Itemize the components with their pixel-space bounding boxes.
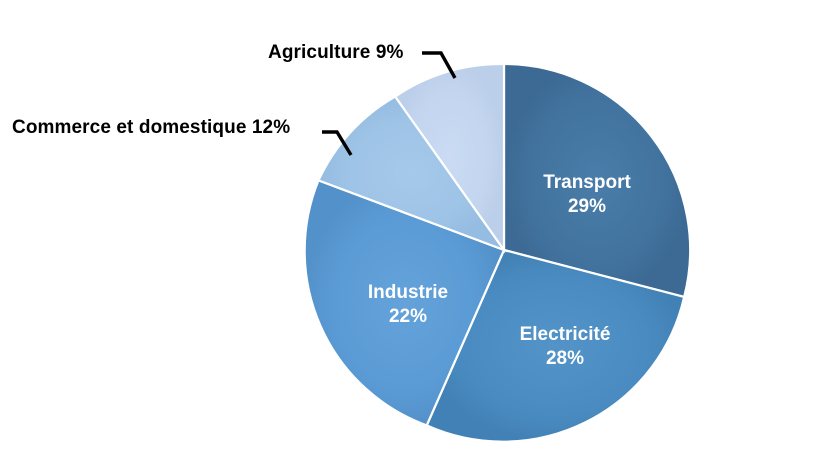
slice-label-electricite-value: 28%: [546, 348, 584, 369]
slice-label-industrie-name: Industrie: [368, 282, 448, 303]
slice-label-transport-value: 29%: [568, 196, 606, 217]
pie-chart-svg: Transport 29% Electricité 28% Industrie …: [0, 0, 820, 461]
slice-label-transport-name: Transport: [543, 172, 631, 193]
slice-label-industrie-value: 22%: [389, 306, 427, 327]
callout-label-agriculture: Agriculture 9%: [268, 42, 404, 64]
callout-label-commerce-et-domestique: Commerce et domestique 12%: [12, 117, 290, 139]
slice-label-electricite-name: Electricité: [520, 324, 611, 345]
pie-chart-figure: Transport 29% Electricité 28% Industrie …: [0, 0, 820, 461]
